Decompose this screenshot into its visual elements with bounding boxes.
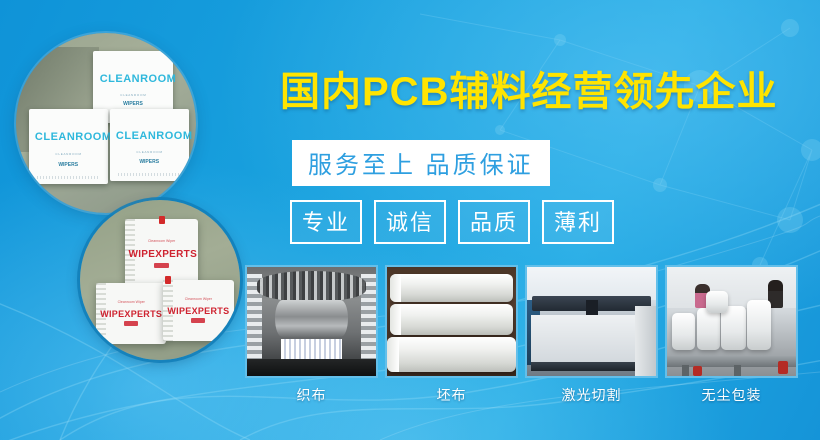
- process-item-2: 坯布: [385, 265, 518, 405]
- wipexperts-cartons-photo: Cleanroom Wiper WIPEXPERTS Cleanroom Wip…: [80, 200, 240, 360]
- value-tag-1: 专业: [290, 200, 362, 244]
- cleanroom-packaging-photo: [665, 265, 798, 378]
- process-item-4: 无尘包装: [665, 265, 798, 405]
- value-tag-3-label: 品质: [470, 210, 518, 235]
- laser-cutting-machine-photo: [525, 265, 658, 378]
- value-tag-1-label: 专业: [302, 210, 350, 235]
- value-tag-4: 薄利: [542, 200, 614, 244]
- process-item-1: 织布: [245, 265, 378, 405]
- value-tag-4-label: 薄利: [554, 210, 602, 235]
- process-item-3-caption: 激光切割: [525, 385, 658, 405]
- process-item-1-caption: 织布: [245, 385, 378, 405]
- process-item-2-caption: 坯布: [385, 385, 518, 405]
- promo-banner: CLEANROOM C L E A N R O O M WIPERS CLEAN…: [0, 0, 820, 440]
- greige-fabric-rolls-photo: [385, 265, 518, 378]
- process-item-4-caption: 无尘包装: [665, 385, 798, 405]
- process-photo-strip: 织布 坯布 激光切割: [245, 265, 798, 405]
- process-item-3: 激光切割: [525, 265, 658, 405]
- knitting-machine-photo: [245, 265, 378, 378]
- headline: 国内PCB辅料经营领先企业: [280, 72, 790, 112]
- cleanroom-wipes-photo: CLEANROOM C L E A N R O O M WIPERS CLEAN…: [16, 33, 196, 213]
- value-tag-2: 诚信: [374, 200, 446, 244]
- value-tag-list: 专业 诚信 品质 薄利: [290, 200, 614, 244]
- subtitle-text: 服务至上 品质保证: [308, 152, 534, 179]
- value-tag-2-label: 诚信: [386, 210, 434, 235]
- subtitle-band: 服务至上 品质保证: [292, 140, 550, 186]
- value-tag-3: 品质: [458, 200, 530, 244]
